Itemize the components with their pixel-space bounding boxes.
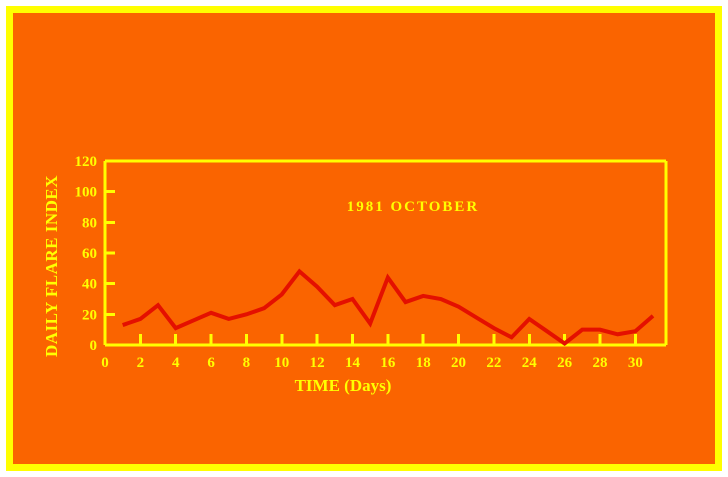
chart-annotation: 1981 OCTOBER xyxy=(347,199,480,215)
figure-page: 0204060801001200246810121416182022242628… xyxy=(0,0,728,477)
y-tick-label: 100 xyxy=(75,185,98,201)
y-tick-label: 40 xyxy=(82,277,97,293)
x-tick-label: 4 xyxy=(172,355,180,371)
y-tick-label: 20 xyxy=(82,307,97,323)
x-tick-label: 26 xyxy=(557,355,573,371)
flare-index-line-chart: 0204060801001200246810121416182022242628… xyxy=(13,13,715,464)
axis-ticks-group xyxy=(105,161,635,345)
y-tick-label: 120 xyxy=(75,154,98,170)
y-tick-label: 80 xyxy=(82,215,97,231)
x-tick-label: 16 xyxy=(380,355,396,371)
x-tick-label: 22 xyxy=(486,355,501,371)
x-tick-label: 14 xyxy=(345,355,361,371)
x-tick-label: 24 xyxy=(522,355,538,371)
x-tick-label: 0 xyxy=(101,355,109,371)
y-tick-label: 0 xyxy=(90,338,98,354)
x-tick-label: 2 xyxy=(137,355,145,371)
x-axis-title: TIME (Days) xyxy=(295,376,392,395)
plot-area: 0204060801001200246810121416182022242628… xyxy=(13,13,715,464)
x-tick-label: 28 xyxy=(592,355,607,371)
y-axis-title: DAILY FLARE INDEX xyxy=(42,175,61,357)
x-tick-label: 10 xyxy=(274,355,289,371)
y-tick-label: 60 xyxy=(82,246,97,262)
x-tick-label: 30 xyxy=(628,355,643,371)
data-series-line xyxy=(123,271,653,343)
x-tick-label: 18 xyxy=(416,355,431,371)
figure-frame: 0204060801001200246810121416182022242628… xyxy=(6,6,722,471)
x-tick-label: 20 xyxy=(451,355,466,371)
y-axis-title-container: DAILY FLARE INDEX xyxy=(35,13,75,464)
x-tick-label: 6 xyxy=(207,355,215,371)
x-tick-label: 8 xyxy=(243,355,251,371)
x-tick-label: 12 xyxy=(310,355,325,371)
axes-group xyxy=(105,161,666,345)
